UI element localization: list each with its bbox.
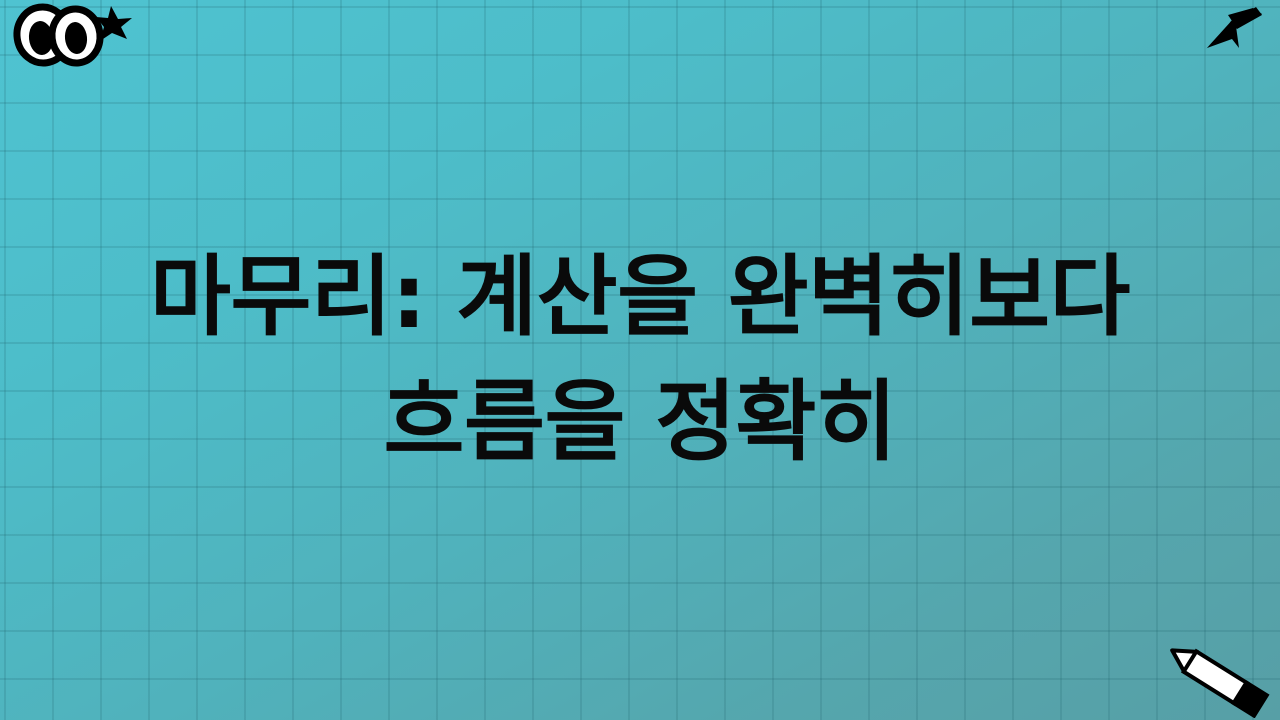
title-block: 마무리: 계산을 완벽히보다 흐름을 정확히 — [0, 0, 1280, 720]
page-title: 마무리: 계산을 완벽히보다 흐름을 정확히 — [80, 235, 1200, 485]
slide-canvas: 마무리: 계산을 완벽히보다 흐름을 정확히 — [0, 0, 1280, 720]
